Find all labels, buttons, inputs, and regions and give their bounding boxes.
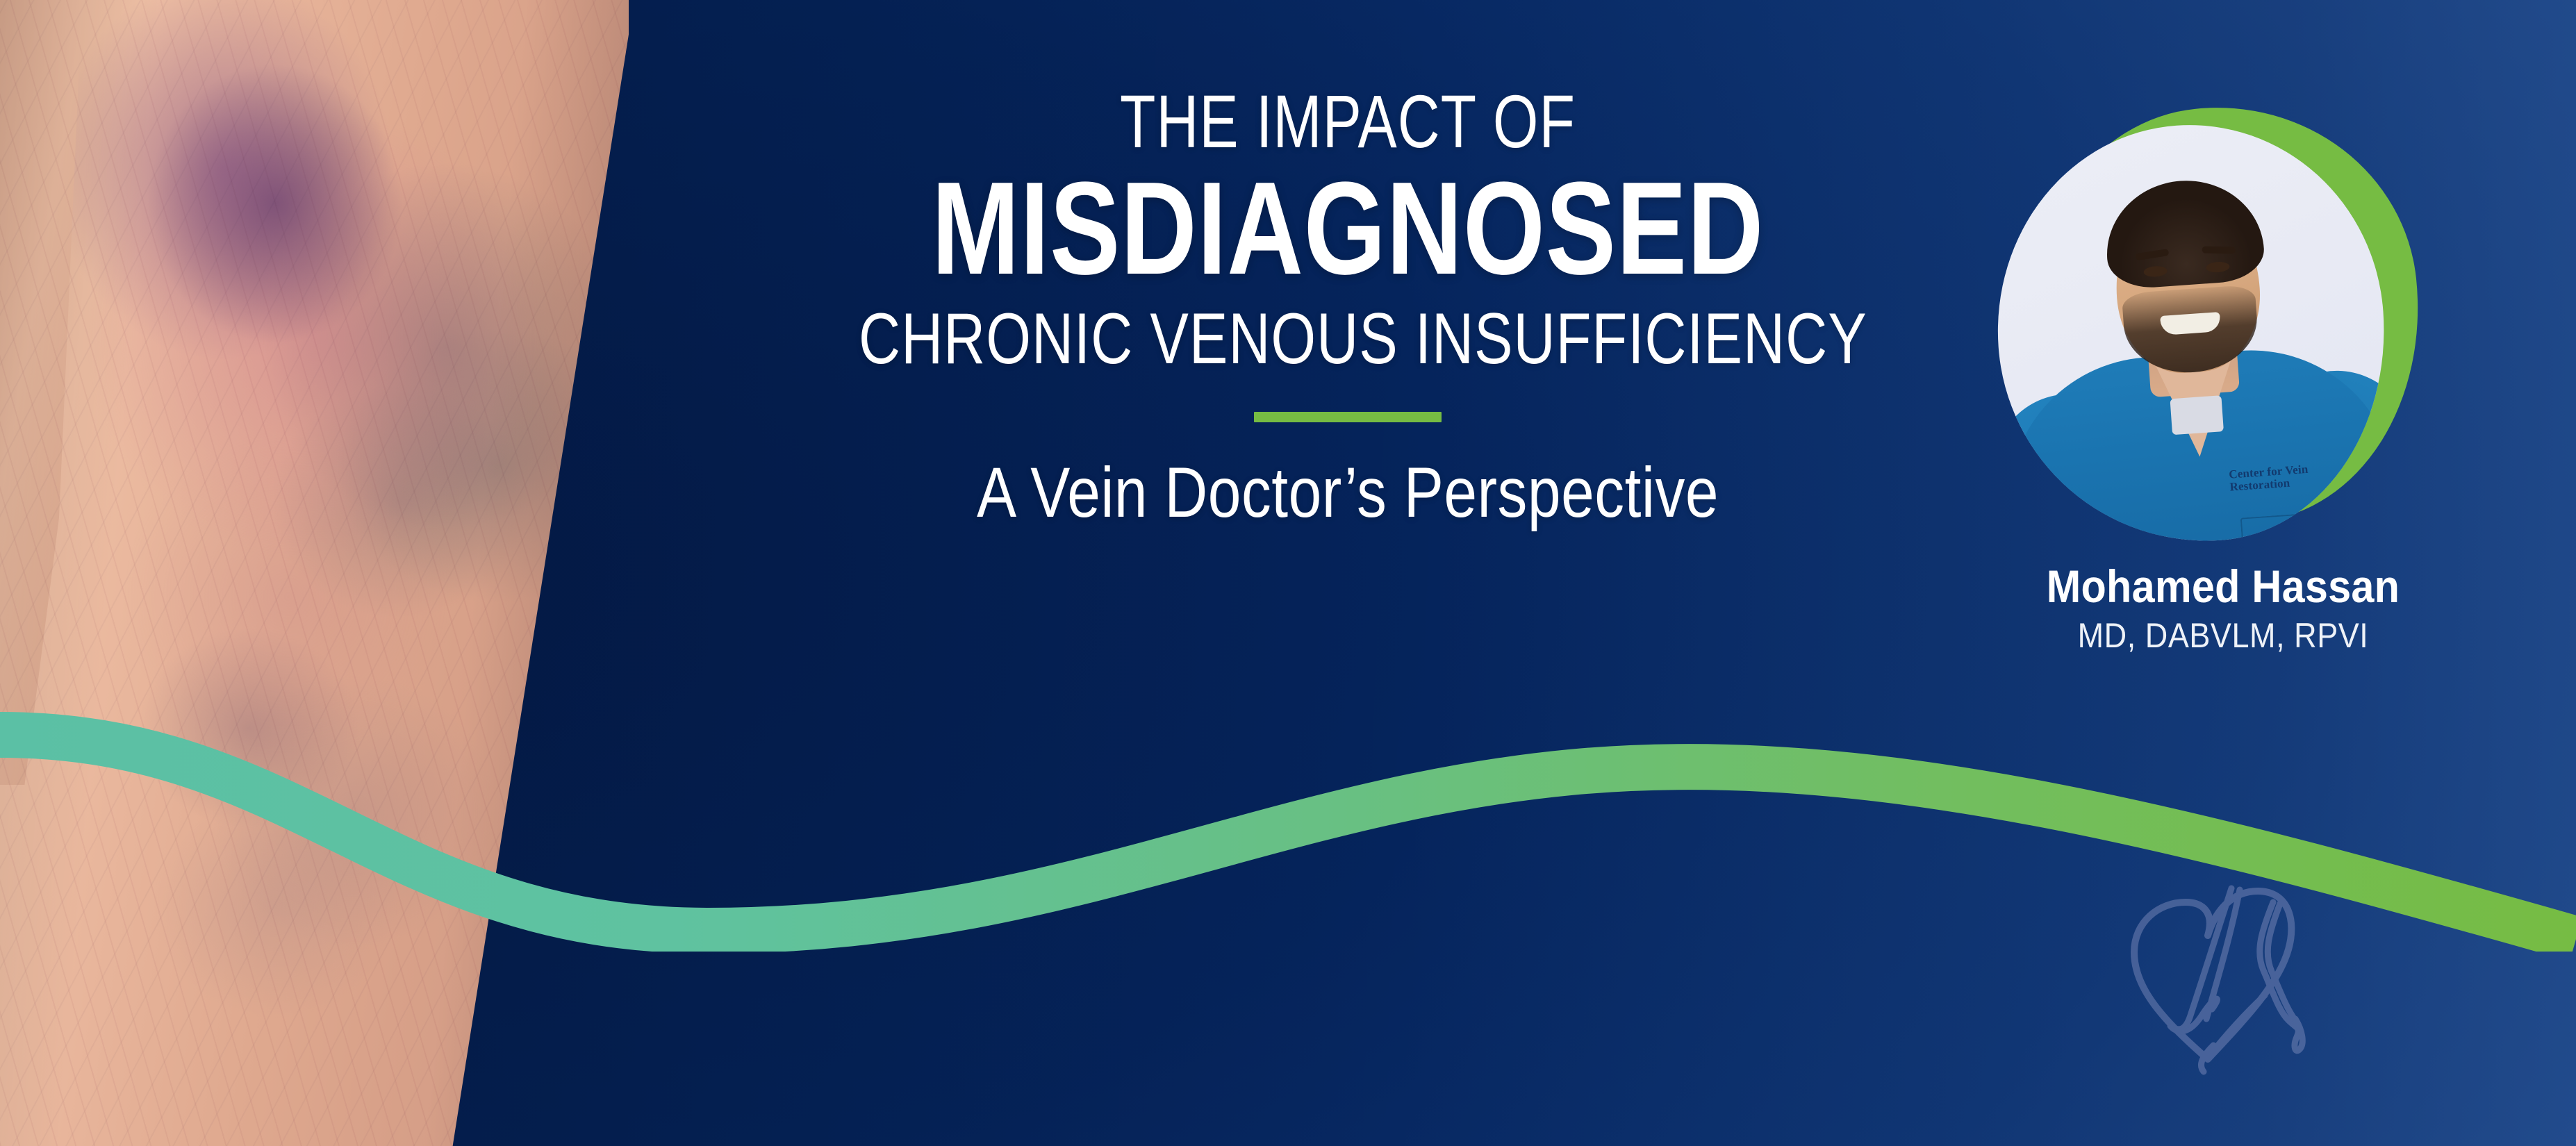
headline-block: THE IMPACT OF MISDIAGNOSED CHRONIC VENOU… — [736, 83, 1959, 530]
hair — [2102, 176, 2266, 290]
heart-leg-logo-svg — [2126, 872, 2404, 1108]
scrub-pocket — [2240, 512, 2335, 555]
doctor-credentials: MD, DABVLM, RPVI — [1985, 615, 2461, 656]
eyebrow-text: THE IMPACT OF — [871, 83, 1825, 160]
light-blob-shape: Center for Vein Restoration — [1984, 112, 2398, 554]
heart-leg-logo-icon — [2126, 872, 2404, 1108]
doctor-portrait-photo: Center for Vein Restoration — [1984, 112, 2398, 554]
subheadline-text: CHRONIC VENOUS INSUFFICIENCY — [859, 302, 1837, 376]
portrait-blob-frame: Center for Vein Restoration — [1987, 104, 2418, 556]
eyebrow-right — [2202, 247, 2236, 254]
undershirt — [2170, 395, 2224, 435]
headline-text: MISDIAGNOSED — [859, 165, 1837, 292]
doctor-profile: Center for Vein Restoration Mohamed Hass… — [1987, 104, 2459, 715]
doctor-name: Mohamed Hassan — [1985, 560, 2461, 613]
green-divider-rule — [1254, 412, 1442, 422]
tagline-text: A Vein Doctor’s Perspective — [834, 456, 1861, 530]
banner-root: THE IMPACT OF MISDIAGNOSED CHRONIC VENOU… — [0, 0, 2576, 1146]
